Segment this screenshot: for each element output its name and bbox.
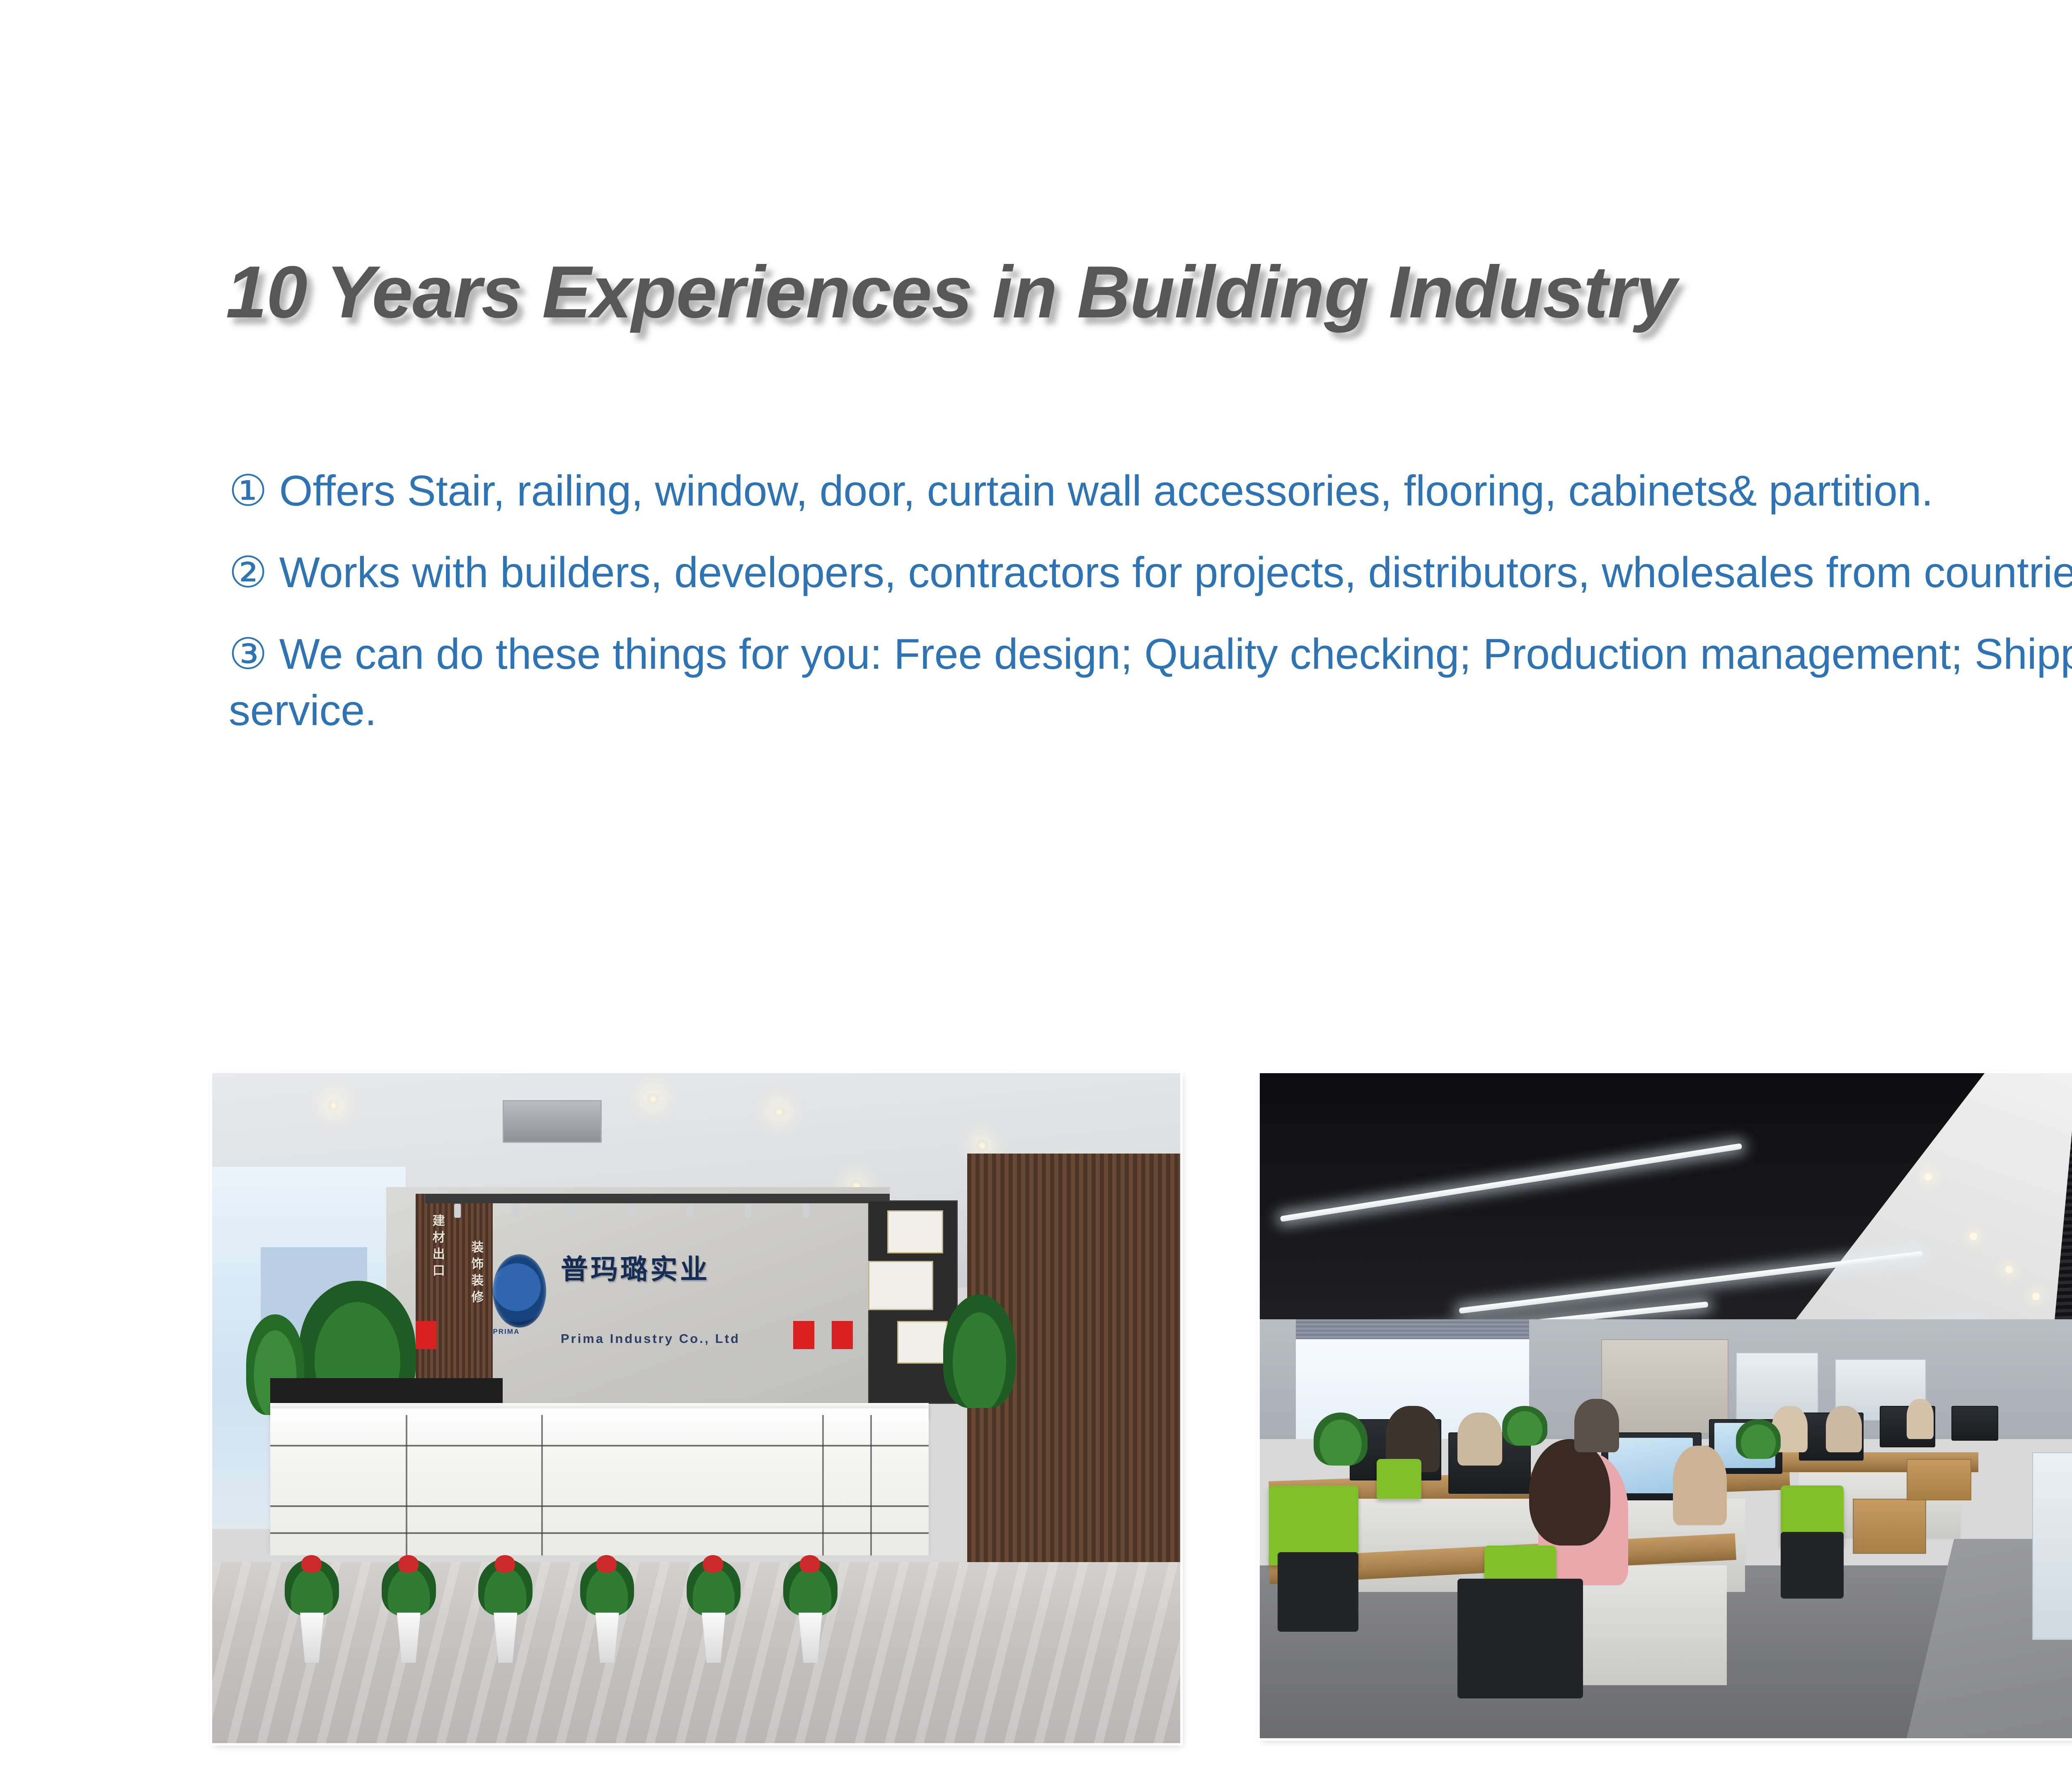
office-cardboard-box bbox=[1853, 1499, 1926, 1553]
page-title: 10 Years Experiences in Building Industr… bbox=[226, 254, 1677, 330]
lobby-flag-icon bbox=[793, 1321, 814, 1349]
office-person-seated bbox=[1826, 1406, 1862, 1452]
lobby-plant-right bbox=[943, 1294, 1016, 1408]
lobby-downlight-icon bbox=[774, 1107, 784, 1118]
lobby-certificate-frame bbox=[868, 1261, 934, 1310]
lobby-spotlight-icon bbox=[570, 1204, 577, 1218]
bullet-text-3: We can do these things for you: Free des… bbox=[229, 630, 2072, 734]
lobby-spotlight-icon bbox=[687, 1204, 693, 1218]
lobby-signage-chinese: 普玛璐实业 bbox=[561, 1247, 710, 1287]
photo-office-reception-lobby: 建材出口 装饰装修 PRIMA 普玛璐实业 Prima Industry Co.… bbox=[212, 1073, 1180, 1743]
lobby-spotlight-icon bbox=[512, 1204, 519, 1218]
lobby-counter-groove bbox=[270, 1532, 928, 1534]
bullet-item-1: ① Offers Stair, railing, window, door, c… bbox=[229, 463, 2072, 519]
office-chair-base bbox=[1278, 1552, 1358, 1632]
bullet-text-2: Works with builders, developers, contrac… bbox=[279, 549, 2072, 597]
lobby-counter-groove bbox=[270, 1445, 928, 1447]
office-monitor bbox=[1951, 1406, 1998, 1441]
lobby-counter-joint bbox=[870, 1415, 872, 1556]
lobby-anthurium-flower bbox=[301, 1555, 322, 1572]
office-chair-base bbox=[1781, 1532, 1844, 1599]
lobby-flag-icon bbox=[832, 1321, 853, 1349]
bullet-marker-2: ② bbox=[229, 549, 267, 597]
lobby-anthurium-flower bbox=[596, 1555, 617, 1572]
lobby-downlight-icon bbox=[977, 1140, 988, 1151]
prima-logo-wordmark: PRIMA bbox=[493, 1328, 520, 1336]
office-desk-plant bbox=[1736, 1419, 1781, 1459]
lobby-signage-english: Prima Industry Co., Ltd bbox=[561, 1331, 740, 1346]
lobby-spotlight-icon bbox=[803, 1204, 809, 1218]
bullet-text-1: Offers Stair, railing, window, door, cur… bbox=[279, 467, 1933, 515]
lobby-anthurium-flower bbox=[495, 1555, 515, 1572]
office-downlight-icon bbox=[1924, 1173, 1932, 1180]
office-task-chair bbox=[1377, 1459, 1421, 1499]
lobby-wall-vertical-text-left: 建材出口 bbox=[428, 1214, 446, 1328]
prima-logo-mark-icon bbox=[493, 1254, 546, 1328]
office-desk-plant bbox=[1314, 1413, 1368, 1466]
office-person-hair bbox=[1529, 1439, 1610, 1546]
office-chair-base bbox=[1457, 1579, 1583, 1698]
lobby-counter-joint bbox=[406, 1415, 407, 1556]
lobby-anthurium-flower bbox=[398, 1555, 419, 1572]
office-person-seated bbox=[1457, 1413, 1502, 1466]
office-cardboard-box bbox=[1907, 1459, 1971, 1500]
office-person-seated bbox=[1574, 1399, 1619, 1452]
bullet-marker-1: ① bbox=[229, 467, 267, 515]
lobby-flag-icon bbox=[416, 1321, 437, 1349]
bullet-item-3: ③ We can do these things for you: Free d… bbox=[229, 626, 2072, 738]
office-person-seated bbox=[1673, 1446, 1727, 1526]
photo-open-plan-office bbox=[1260, 1073, 2072, 1738]
lobby-certificate-frame bbox=[887, 1210, 943, 1253]
lobby-ceiling-vent-icon bbox=[503, 1100, 602, 1143]
lobby-spotlight-icon bbox=[454, 1204, 461, 1218]
lobby-downlight-icon bbox=[328, 1100, 339, 1111]
photo-row: 建材出口 装饰装修 PRIMA 普玛璐实业 Prima Industry Co.… bbox=[0, 1073, 2072, 1753]
lobby-certificate-frame bbox=[897, 1321, 948, 1364]
office-desk-plant bbox=[1502, 1406, 1547, 1446]
bullet-list: ① Offers Stair, railing, window, door, c… bbox=[229, 463, 2072, 739]
lobby-anthurium-flower bbox=[703, 1555, 723, 1572]
office-person-seated bbox=[1907, 1399, 1934, 1439]
lobby-anthurium-flower bbox=[800, 1555, 820, 1572]
lobby-counter-joint bbox=[822, 1415, 824, 1556]
lobby-wall-vertical-text-right: 装饰装修 bbox=[467, 1241, 485, 1355]
lobby-counter-joint bbox=[541, 1415, 543, 1556]
slide-canvas: 10 Years Experiences in Building Industr… bbox=[0, 0, 2072, 1790]
lobby-spotlight-icon bbox=[628, 1204, 635, 1218]
lobby-counter-groove bbox=[270, 1505, 928, 1507]
bullet-item-2: ② Works with builders, developers, contr… bbox=[229, 545, 2072, 601]
bullet-marker-3: ③ bbox=[229, 630, 267, 678]
lobby-spotlight-icon bbox=[745, 1204, 751, 1218]
lobby-light-track bbox=[425, 1194, 890, 1203]
lobby-downlight-icon bbox=[648, 1093, 658, 1104]
office-downlight-icon bbox=[1970, 1233, 1977, 1240]
title-block: 10 Years Experiences in Building Industr… bbox=[226, 254, 1677, 330]
office-water-bottle-stack bbox=[2032, 1452, 2072, 1640]
